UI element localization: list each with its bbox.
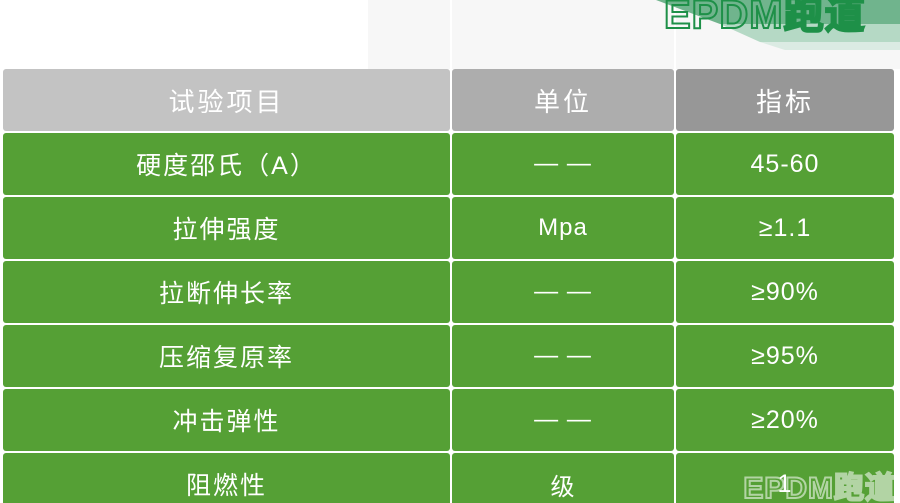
- spec-table-page: EPDM跑道 试验项目 单位 指标 硬度邵氏（A） — — 45-60 拉伸强度…: [0, 0, 900, 503]
- cell-unit: — —: [452, 325, 674, 387]
- background-panel-2: [452, 0, 674, 69]
- cell-item: 拉断伸长率: [3, 261, 450, 323]
- table-row: 压缩复原率 — — ≥95%: [3, 325, 894, 387]
- cell-index: 45-60: [676, 133, 894, 195]
- header-cell-item: 试验项目: [3, 69, 450, 131]
- cell-index: ≥90%: [676, 261, 894, 323]
- cell-item: 压缩复原率: [3, 325, 450, 387]
- table-row: 硬度邵氏（A） — — 45-60: [3, 133, 894, 195]
- cell-unit: — —: [452, 389, 674, 451]
- cell-index: ≥1.1: [676, 197, 894, 259]
- table-row: 冲击弹性 — — ≥20%: [3, 389, 894, 451]
- cell-index: ≥20%: [676, 389, 894, 451]
- cell-unit: — —: [452, 133, 674, 195]
- background-panel-3: [676, 0, 900, 69]
- cell-item: 拉伸强度: [3, 197, 450, 259]
- cell-unit: 级: [452, 453, 674, 503]
- cell-item: 阻燃性: [3, 453, 450, 503]
- cell-index: ≥95%: [676, 325, 894, 387]
- cell-index: 1: [676, 453, 894, 503]
- table-row: 拉伸强度 Mpa ≥1.1: [3, 197, 894, 259]
- specification-table: 试验项目 单位 指标 硬度邵氏（A） — — 45-60 拉伸强度 Mpa ≥1…: [3, 69, 894, 503]
- header-cell-unit: 单位: [452, 69, 674, 131]
- background-panel-1: [368, 0, 450, 69]
- cell-unit: — —: [452, 261, 674, 323]
- table-header-row: 试验项目 单位 指标: [3, 69, 894, 131]
- cell-item: 硬度邵氏（A）: [3, 133, 450, 195]
- table-row: 阻燃性 级 1: [3, 453, 894, 503]
- background-panels: [0, 0, 900, 69]
- header-cell-index: 指标: [676, 69, 894, 131]
- cell-unit: Mpa: [452, 197, 674, 259]
- cell-item: 冲击弹性: [3, 389, 450, 451]
- table-row: 拉断伸长率 — — ≥90%: [3, 261, 894, 323]
